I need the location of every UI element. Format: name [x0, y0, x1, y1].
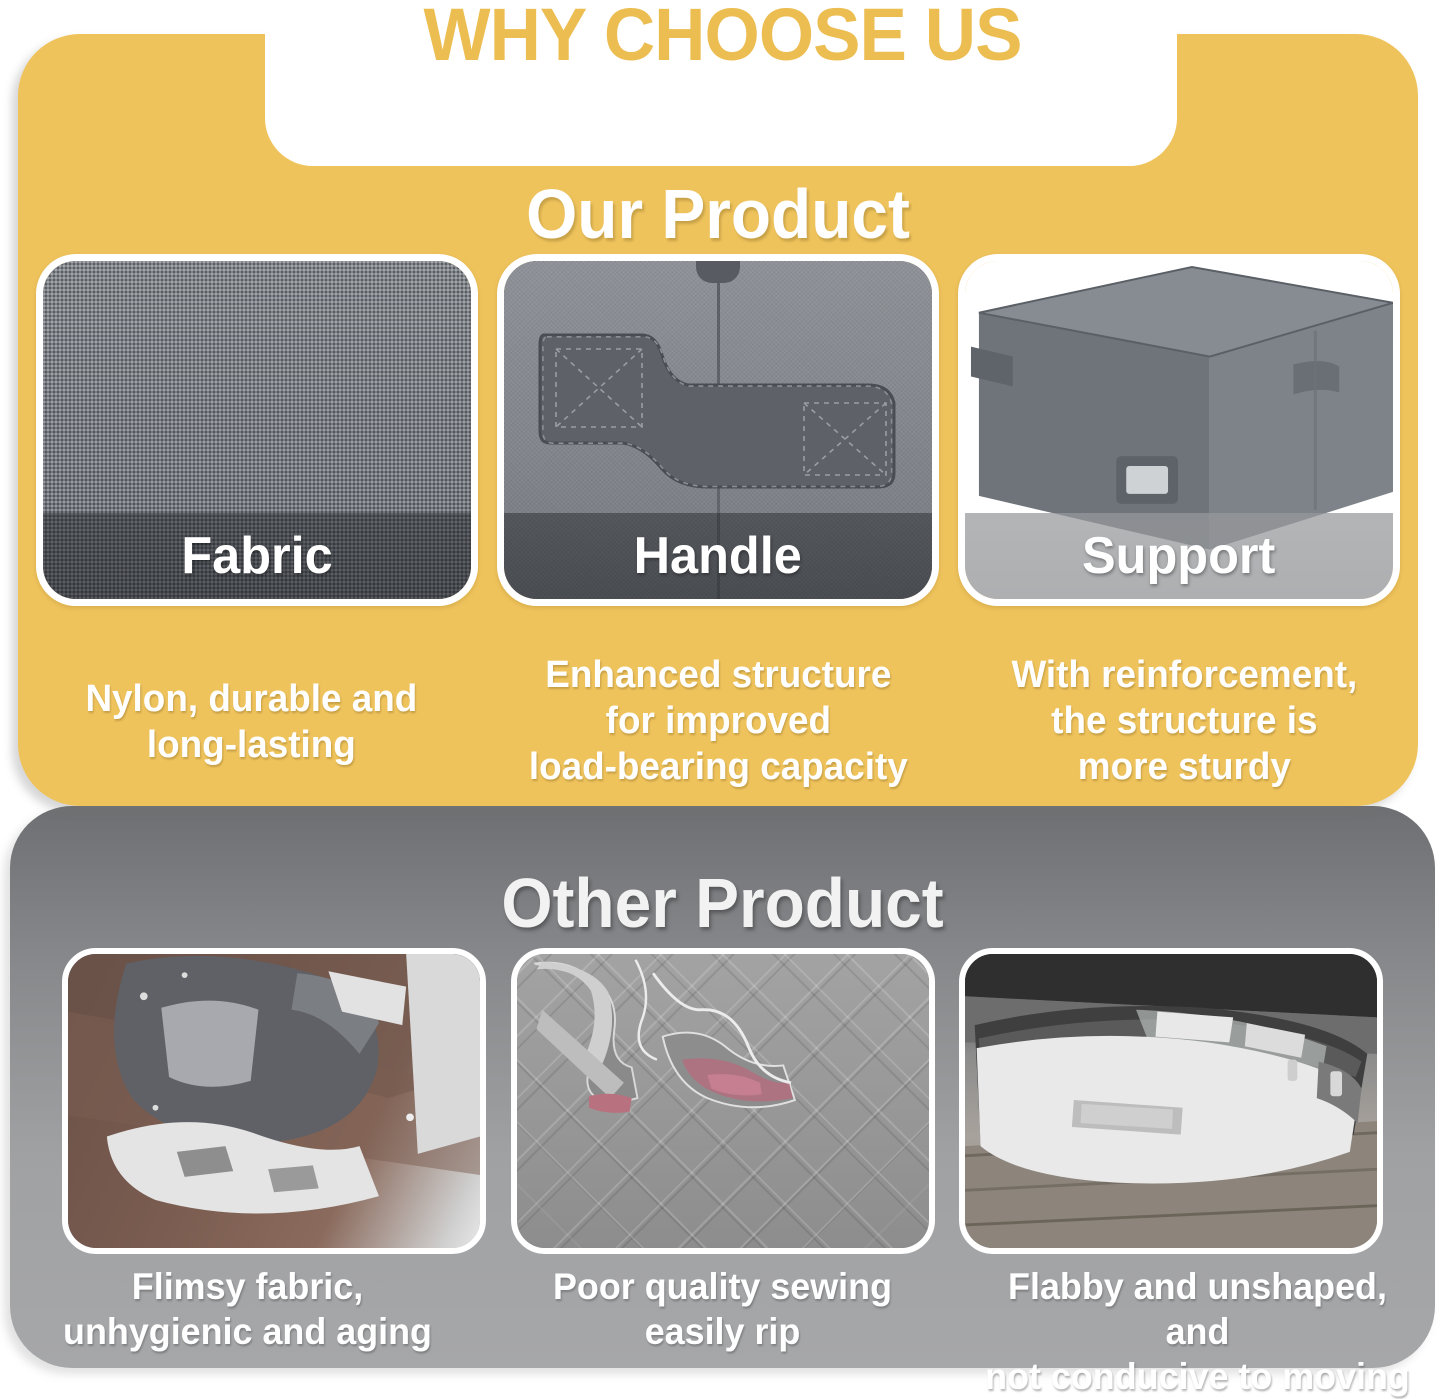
torn-bag-image	[68, 954, 480, 1248]
other-product-card-row	[10, 948, 1435, 1268]
torn-bag-shape	[68, 954, 480, 1248]
card-label-band: Fabric	[43, 513, 471, 599]
other-caption-flabby: Flabby and unshaped, andnot conducive to…	[967, 1258, 1428, 1368]
ripped-quilted-fabric-image	[517, 954, 929, 1248]
other-product-caption-row: Flimsy fabric,unhygienic and aging Poor …	[10, 1258, 1435, 1368]
product-card-label: Fabric	[181, 526, 332, 586]
our-product-panel: Our Product Fabric	[18, 34, 1418, 806]
our-product-card-row: Fabric Handle	[18, 254, 1418, 624]
handle-strap-shape	[538, 323, 910, 499]
other-product-title: Other Product	[53, 866, 1393, 940]
card-label-band: Support	[965, 513, 1393, 599]
other-card-ripped-sewing[interactable]	[511, 948, 935, 1254]
product-card-support[interactable]: Support	[958, 254, 1400, 606]
other-product-panel: Other Product	[10, 806, 1435, 1368]
other-caption-flimsy: Flimsy fabric,unhygienic and aging	[17, 1258, 478, 1368]
product-card-label: Handle	[634, 526, 802, 586]
product-caption-fabric: Nylon, durable andlong-lasting	[25, 642, 478, 802]
product-caption-support: With reinforcement,the structure ismore …	[958, 642, 1411, 802]
page-headline: WHY CHOOSE US	[29, 0, 1416, 76]
our-product-title: Our Product	[60, 177, 1376, 251]
saggy-bag-shape	[965, 954, 1377, 1248]
rip-shape	[517, 954, 929, 1248]
product-card-label: Support	[1082, 526, 1275, 586]
product-caption-handle: Enhanced structurefor improvedload-beari…	[492, 642, 945, 802]
zipper-pull-icon	[696, 257, 740, 283]
our-product-caption-row: Nylon, durable andlong-lasting Enhanced …	[18, 642, 1418, 802]
card-label-band: Handle	[504, 513, 932, 599]
saggy-white-bag-image	[965, 954, 1377, 1248]
product-card-fabric[interactable]: Fabric	[36, 254, 478, 606]
other-card-flabby-bag[interactable]	[959, 948, 1383, 1254]
other-card-torn-bag[interactable]	[62, 948, 486, 1254]
product-card-handle[interactable]: Handle	[497, 254, 939, 606]
other-caption-sewing: Poor quality sewingeasily rip	[492, 1258, 953, 1368]
